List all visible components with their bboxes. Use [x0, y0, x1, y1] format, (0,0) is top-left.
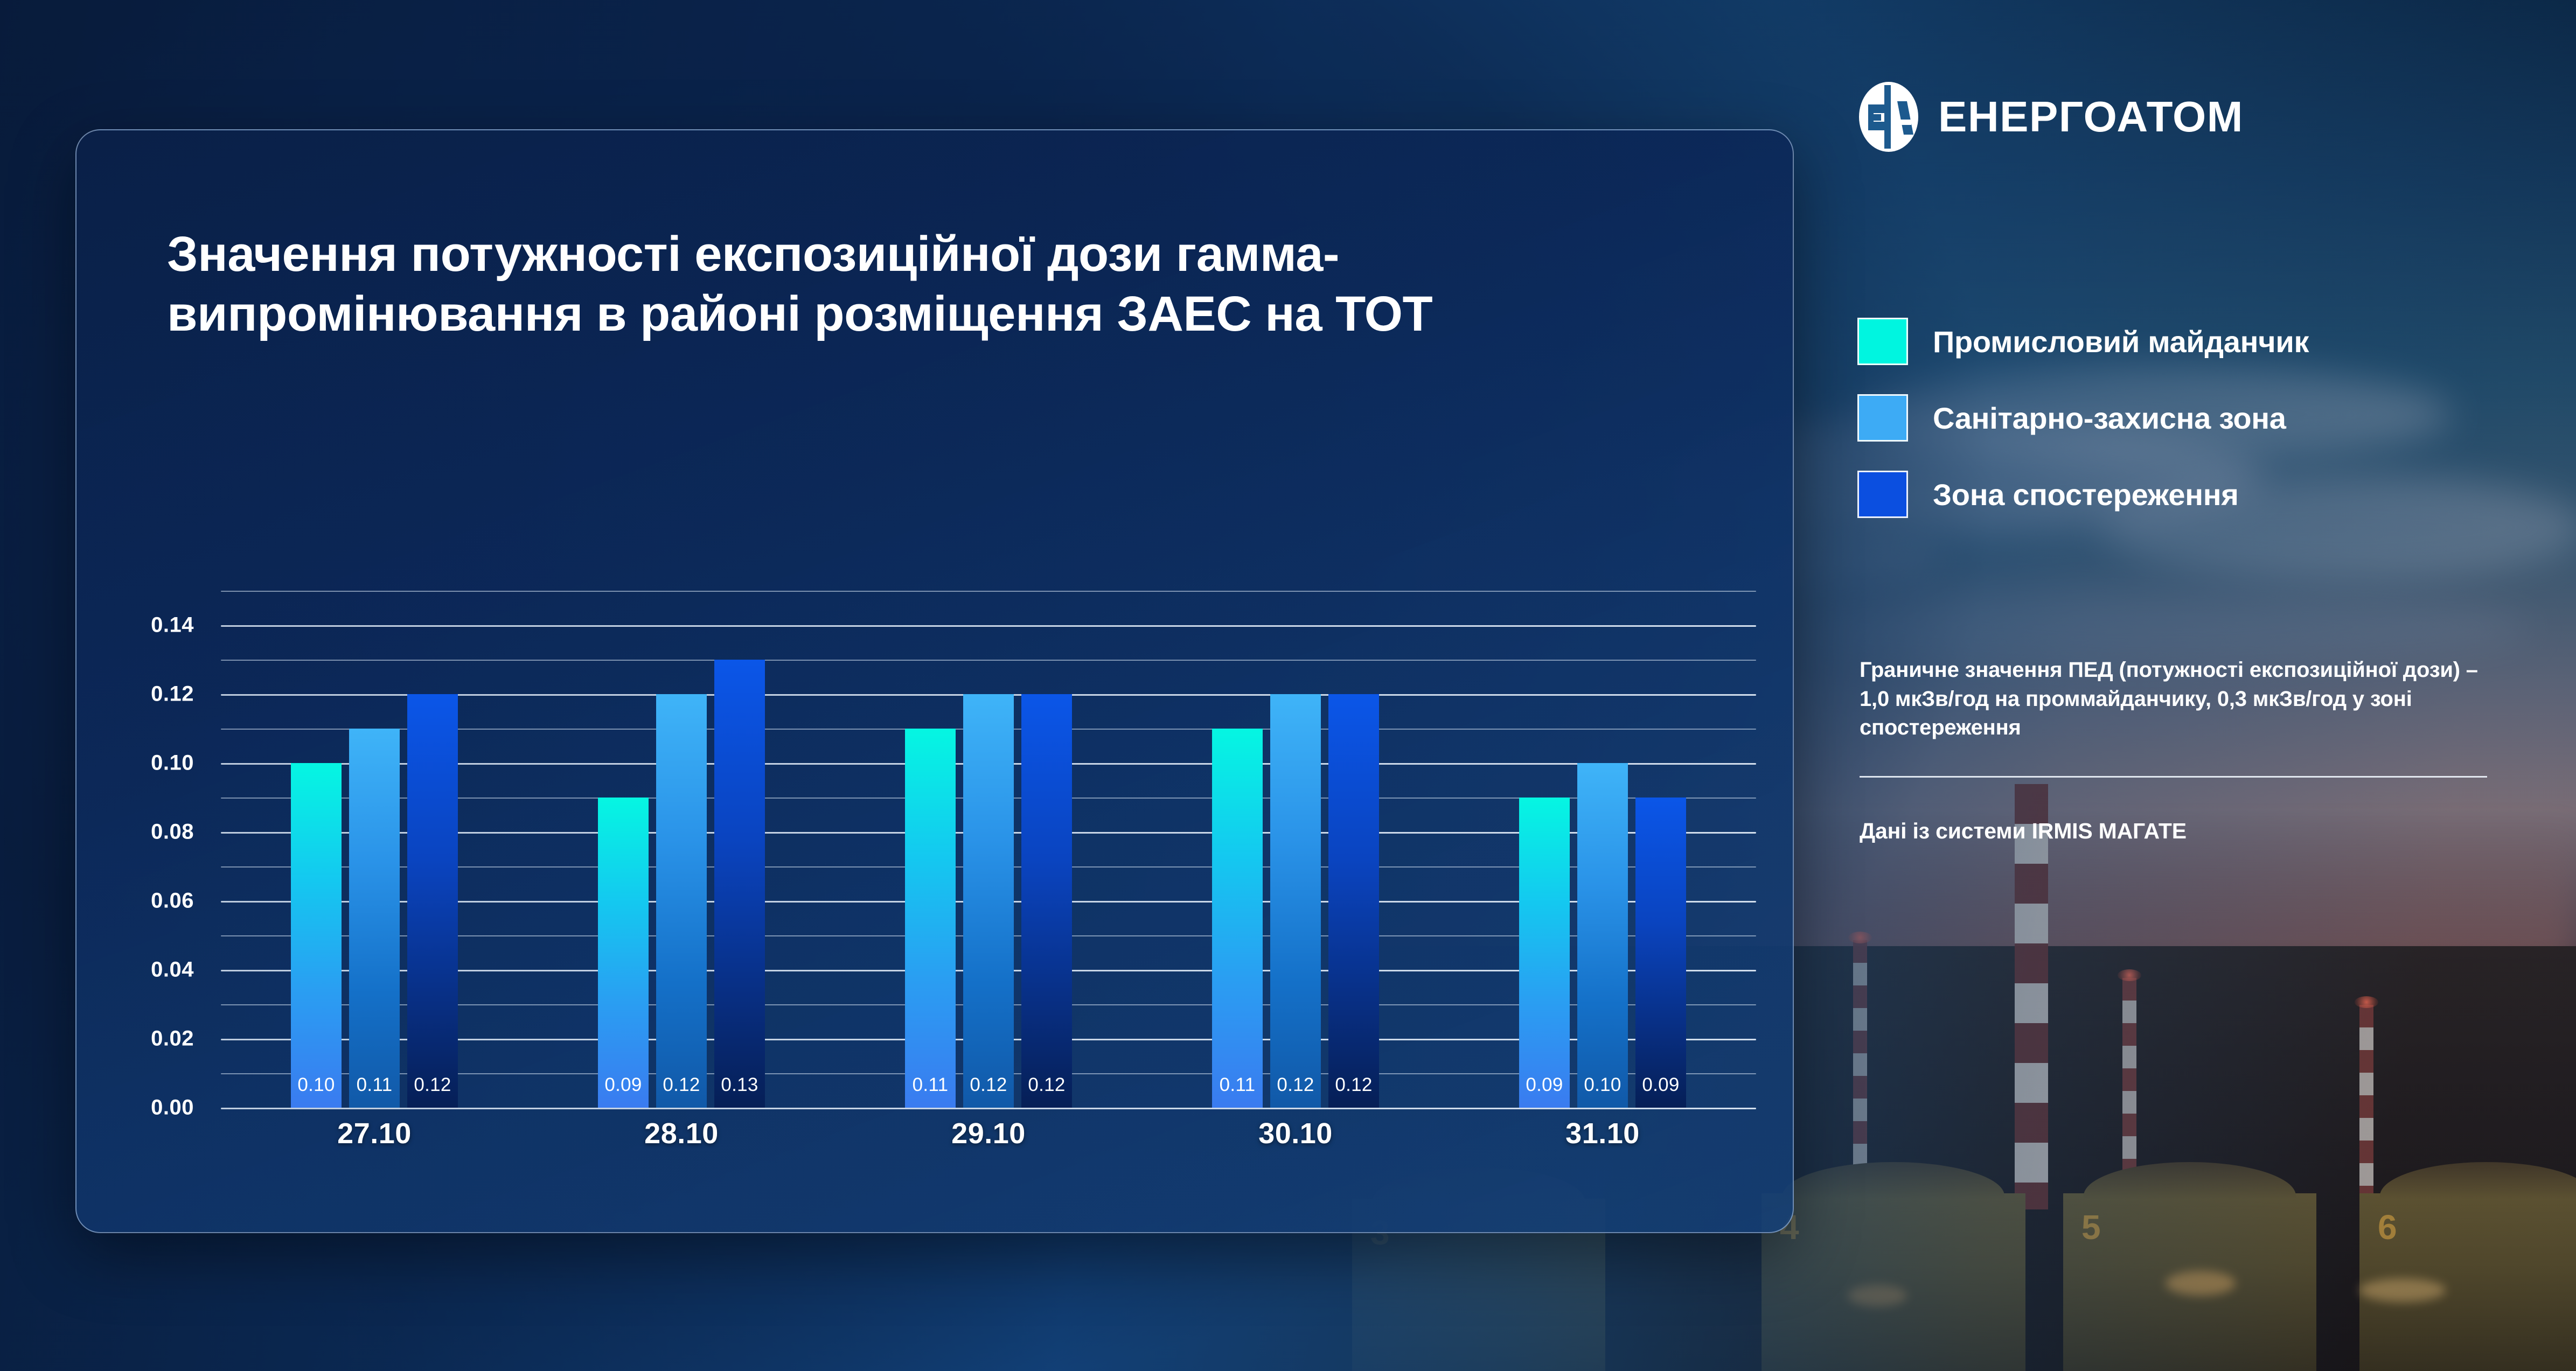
bar-value-label: 0.13	[714, 1074, 765, 1096]
bar-value-label: 0.12	[407, 1074, 458, 1096]
y-axis-tick-label: 0.12	[151, 682, 194, 707]
legend-swatch-observation-zone	[1857, 471, 1908, 518]
bar-value-label: 0.12	[1328, 1074, 1379, 1096]
bar[interactable]: 0.11	[905, 729, 956, 1108]
notes-divider	[1860, 776, 2487, 778]
y-axis-tick-label: 0.10	[151, 751, 194, 775]
y-axis-tick-label: 0.00	[151, 1096, 194, 1120]
legend-item-industrial-site[interactable]: Промисловий майданчик	[1857, 318, 2558, 365]
y-axis-tick-label: 0.08	[151, 820, 194, 844]
x-axis-labels: 27.1028.1029.1030.1031.10	[221, 1117, 1756, 1181]
bar-value-label: 0.09	[598, 1074, 649, 1096]
x-axis-tick-label: 28.10	[644, 1117, 719, 1150]
bar[interactable]: 0.12	[1328, 694, 1379, 1108]
chart-card: Значення потужності експозиційної дози г…	[75, 129, 1794, 1233]
bar[interactable]: 0.12	[656, 694, 707, 1108]
legend-label-observation-zone: Зона спостереження	[1933, 477, 2239, 512]
bar-value-label: 0.10	[291, 1074, 342, 1096]
bar[interactable]: 0.09	[1519, 798, 1570, 1108]
x-axis-tick-label: 31.10	[1565, 1117, 1640, 1150]
bar-value-label: 0.10	[1577, 1074, 1628, 1096]
note-dose-limit: Граничне значення ПЕД (потужності експоз…	[1860, 656, 2495, 743]
bar-value-label: 0.09	[1519, 1074, 1570, 1096]
x-axis-tick-label: 30.10	[1258, 1117, 1333, 1150]
bar-value-label: 0.12	[963, 1074, 1014, 1096]
bar[interactable]: 0.12	[407, 694, 458, 1108]
y-axis-tick-label: 0.14	[151, 613, 194, 638]
notes-block: Граничне значення ПЕД (потужності експоз…	[1860, 656, 2495, 844]
bar-value-label: 0.09	[1635, 1074, 1686, 1096]
bar-value-label: 0.11	[349, 1074, 400, 1096]
x-axis-tick-label: 27.10	[337, 1117, 412, 1150]
bar[interactable]: 0.11	[1212, 729, 1263, 1108]
bar-group: 0.090.100.09	[1519, 591, 1686, 1108]
brand-wordmark: ЕНЕРГОАТОМ	[1938, 92, 2244, 142]
bar-value-label: 0.11	[905, 1074, 956, 1096]
bar-value-label: 0.12	[1021, 1074, 1072, 1096]
bar[interactable]: 0.09	[1635, 798, 1686, 1108]
legend-item-sanitary-zone[interactable]: Санітарно-захисна зона	[1857, 394, 2558, 442]
chart-legend: Промисловий майданчик Санітарно-захисна …	[1857, 318, 2558, 547]
energoatom-ea-monogram-icon	[1857, 81, 1920, 153]
bar[interactable]: 0.13	[714, 660, 765, 1108]
bar[interactable]: 0.11	[349, 729, 400, 1108]
y-axis-tick-label: 0.02	[151, 1027, 194, 1051]
bar-group: 0.110.120.12	[905, 591, 1072, 1108]
bar-groups: 0.100.110.120.090.120.130.110.120.120.11…	[221, 591, 1756, 1108]
y-axis-tick-label: 0.04	[151, 958, 194, 982]
legend-label-industrial-site: Промисловий майданчик	[1933, 324, 2309, 359]
bar-value-label: 0.12	[656, 1074, 707, 1096]
bar-value-label: 0.11	[1212, 1074, 1263, 1096]
legend-swatch-sanitary-zone	[1857, 394, 1908, 442]
side-panel: ЕНЕРГОАТОМ Промисловий майданчик Санітар…	[1842, 0, 2576, 1371]
y-axis-labels: 0.000.020.040.060.080.100.120.14	[76, 591, 211, 1108]
bar-group: 0.090.120.13	[598, 591, 765, 1108]
bar[interactable]: 0.12	[1021, 694, 1072, 1108]
bar-group: 0.110.120.12	[1212, 591, 1379, 1108]
bar-value-label: 0.12	[1270, 1074, 1321, 1096]
y-axis-tick-label: 0.06	[151, 889, 194, 913]
legend-label-sanitary-zone: Санітарно-захисна зона	[1933, 401, 2286, 436]
bar[interactable]: 0.09	[598, 798, 649, 1108]
bar[interactable]: 0.12	[963, 694, 1014, 1108]
bar[interactable]: 0.10	[1577, 763, 1628, 1108]
bar[interactable]: 0.10	[291, 763, 342, 1108]
brand-logo: ЕНЕРГОАТОМ	[1857, 81, 2244, 153]
x-axis-tick-label: 29.10	[951, 1117, 1026, 1150]
legend-item-observation-zone[interactable]: Зона спостереження	[1857, 471, 2558, 518]
page-title: Значення потужності експозиційної дози г…	[167, 225, 1514, 345]
bar[interactable]: 0.12	[1270, 694, 1321, 1108]
gridline-major	[221, 1108, 1756, 1109]
note-data-source: Дані із системи IRMIS МАГАТЕ	[1860, 819, 2495, 844]
bar-group: 0.100.110.12	[291, 591, 458, 1108]
legend-swatch-industrial-site	[1857, 318, 1908, 365]
